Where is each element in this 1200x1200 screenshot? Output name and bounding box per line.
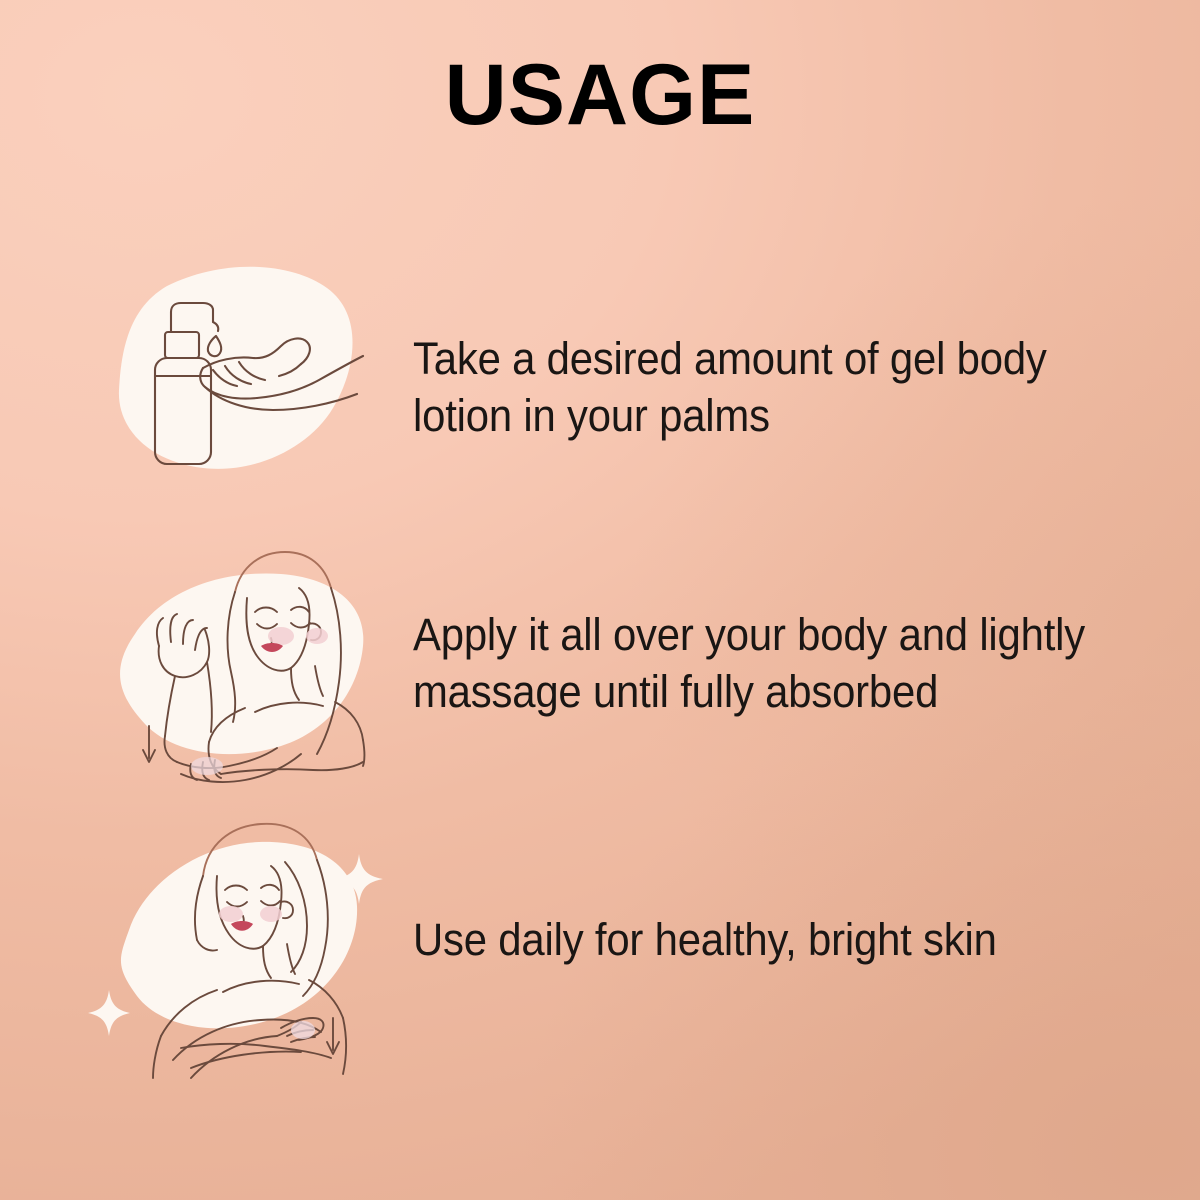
blush-right — [260, 906, 282, 922]
page-title: USAGE — [0, 52, 1200, 138]
blush-left — [268, 627, 294, 645]
blush-right — [306, 628, 328, 644]
usage-step-1: Take a desired amount of gel body lotion… — [0, 250, 1200, 526]
lotion-smear — [291, 1021, 315, 1039]
woman-touching-shoulder-illustration — [95, 802, 395, 1078]
blob-background — [121, 842, 357, 1028]
usage-steps-list: Take a desired amount of gel body lotion… — [0, 250, 1200, 1078]
sparkle-icon-left — [88, 990, 130, 1036]
blob-background — [120, 573, 363, 754]
usage-step-1-text: Take a desired amount of gel body lotion… — [413, 331, 1145, 444]
usage-step-3: Use daily for healthy, bright skin — [0, 802, 1200, 1078]
usage-step-2: Apply it all over your body and lightly … — [0, 526, 1200, 802]
woman-massaging-arm-illustration — [95, 526, 395, 802]
body-left — [153, 1036, 161, 1078]
usage-step-3-text: Use daily for healthy, bright skin — [413, 912, 1145, 969]
lotion-smear — [191, 757, 223, 775]
shoulder-right — [335, 702, 363, 740]
torso-right — [363, 740, 365, 766]
usage-step-2-text: Apply it all over your body and lightly … — [413, 607, 1145, 720]
blush-left — [219, 906, 243, 922]
towel-fold — [191, 1052, 301, 1068]
lotion-bottle-and-hand-illustration — [95, 250, 395, 526]
usage-infographic: USAGE — [0, 0, 1200, 1200]
towel-top — [181, 1044, 331, 1058]
body-right — [343, 1018, 346, 1074]
